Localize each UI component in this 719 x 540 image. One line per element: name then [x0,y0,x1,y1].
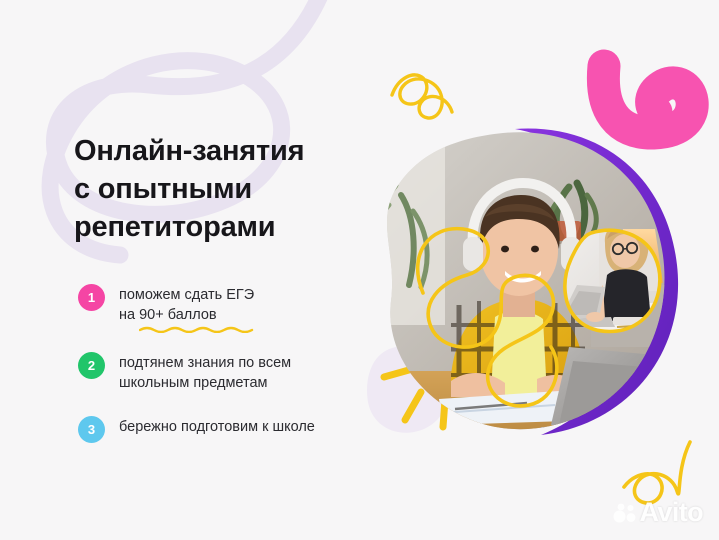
page-title: Онлайн-занятия с опытными репетиторами [74,132,374,246]
benefit-number-badge: 2 [78,352,105,379]
list-item: 3 бережно подготовим к школе [78,415,398,443]
yellow-squiggle-top-decoration [392,75,452,118]
pink-crescent-decoration [603,66,692,133]
avito-watermark: Avito [613,499,704,526]
wavy-underline-decoration [139,325,255,333]
list-item: 2 подтянем знания по всем школьным предм… [78,351,398,393]
benefit-number-badge: 1 [78,284,105,311]
yellow-squiggle-bottom-decoration [624,442,690,503]
benefit-text: поможем сдать ЕГЭ на 90+ баллов [119,283,254,329]
avito-logo-icon [613,503,637,523]
list-item: 1 поможем сдать ЕГЭ на 90+ баллов [78,283,398,329]
benefit-number-badge: 3 [78,416,105,443]
benefit-text: подтянем знания по всем школьным предмет… [119,351,291,393]
benefit-text: бережно подготовим к школе [119,415,315,437]
avito-wordmark: Avito [640,499,704,526]
headline-block: Онлайн-занятия с опытными репетиторами [74,132,374,246]
photo-composition [355,125,685,445]
advertisement-banner: Онлайн-занятия с опытными репетиторами [0,0,719,540]
benefits-list: 1 поможем сдать ЕГЭ на 90+ баллов 2 подт… [78,283,398,443]
